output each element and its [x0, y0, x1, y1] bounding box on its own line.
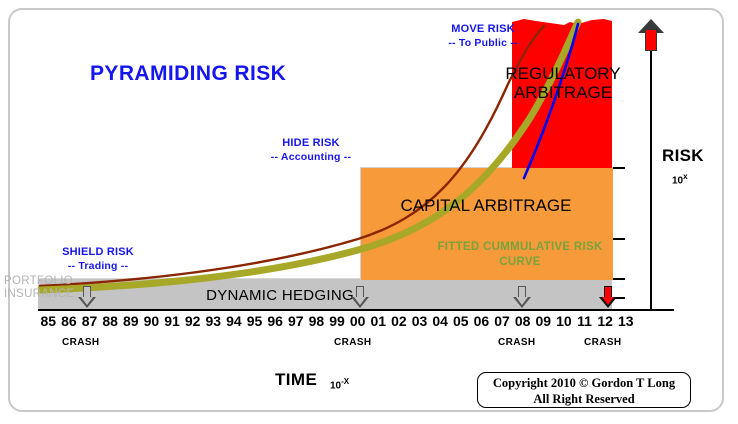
x-tick: 08 — [512, 313, 533, 331]
y-axis-label: RISK — [662, 146, 704, 166]
y-tick-regulatory — [613, 167, 625, 169]
x-tick: 94 — [224, 313, 245, 331]
crash-label-2012: CRASH — [584, 337, 622, 348]
callout-hide-risk: HIDE RISK -- Accounting -- — [246, 136, 376, 164]
y-axis-arrow-marker-icon — [645, 29, 657, 51]
copyright-notice: Copyright 2010 © Gordon T Long All Right… — [477, 372, 691, 408]
label-capital-arbitrage: CAPITAL ARBITRAGE — [360, 196, 612, 216]
crash-label-2000: CRASH — [334, 337, 372, 348]
x-tick: 09 — [533, 313, 554, 331]
x-tick: 95 — [244, 313, 265, 331]
crash-label-2008: CRASH — [498, 337, 536, 348]
crash-arrow-2008-icon — [513, 286, 531, 309]
x-tick: 12 — [595, 313, 616, 331]
copyright-line-1: Copyright 2010 © Gordon T Long — [478, 375, 690, 391]
callout-move-risk: MOVE RISK -- To Public -- — [418, 22, 548, 50]
y-tick-mid — [613, 238, 625, 240]
x-tick: 00 — [347, 313, 368, 331]
x-tick: 01 — [368, 313, 389, 331]
x-axis-tick-labels: 85 86 87 88 89 90 91 92 93 94 95 96 97 9… — [38, 313, 636, 331]
x-tick: 93 — [203, 313, 224, 331]
label-fitted-cummulative-risk-curve: FITTED CUMMULATIVE RISK CURVE — [430, 240, 610, 270]
callout-hide-risk-sub: -- Accounting -- — [246, 150, 376, 164]
x-tick: 06 — [471, 313, 492, 331]
x-tick: 87 — [79, 313, 100, 331]
label-dynamic-hedging: DYNAMIC HEDGING — [150, 287, 410, 304]
x-tick: 86 — [59, 313, 80, 331]
y-tick-capital-base — [613, 278, 625, 280]
x-tick: 90 — [141, 313, 162, 331]
callout-shield-risk-sub: -- Trading -- — [38, 259, 158, 273]
x-tick: 10 — [554, 313, 575, 331]
x-tick: 88 — [100, 313, 121, 331]
x-axis-line — [38, 309, 674, 311]
x-tick: 03 — [409, 313, 430, 331]
crash-arrow-2012-icon — [599, 286, 617, 309]
label-regulatory-arbitrage: REGULATORY ARBITRAGE — [498, 64, 628, 102]
x-tick: 92 — [182, 313, 203, 331]
x-tick: 89 — [121, 313, 142, 331]
callout-shield-risk-heading: SHIELD RISK — [38, 245, 158, 259]
x-axis-label: TIME — [275, 370, 317, 390]
crash-label-1987: CRASH — [62, 337, 100, 348]
label-portfolio-insurance: PORTFOLIO INSURANCE — [4, 275, 114, 301]
copyright-line-2: All Right Reserved — [478, 391, 690, 407]
y-axis-line — [650, 40, 652, 311]
x-tick: 11 — [574, 313, 595, 331]
x-tick: 05 — [451, 313, 472, 331]
crash-arrow-1987-icon — [78, 286, 96, 309]
x-tick: 13 — [616, 313, 637, 331]
y-axis-scale: 10x — [672, 172, 688, 186]
x-tick: 04 — [430, 313, 451, 331]
page-title: PYRAMIDING RISK — [90, 62, 286, 86]
x-tick: 07 — [492, 313, 513, 331]
callout-shield-risk: SHIELD RISK -- Trading -- — [38, 245, 158, 273]
callout-move-risk-sub: -- To Public -- — [418, 36, 548, 50]
x-tick: 85 — [38, 313, 59, 331]
x-tick: 97 — [286, 313, 307, 331]
x-tick: 96 — [265, 313, 286, 331]
callout-move-risk-heading: MOVE RISK — [418, 22, 548, 36]
pyramiding-risk-infographic: PYRAMIDING RISK SHIELD RISK -- Trading -… — [0, 0, 738, 424]
callout-hide-risk-heading: HIDE RISK — [246, 136, 376, 150]
x-tick: 02 — [389, 313, 410, 331]
x-tick: 98 — [306, 313, 327, 331]
x-tick: 91 — [162, 313, 183, 331]
crash-arrow-2000-icon — [351, 286, 369, 309]
x-tick: 99 — [327, 313, 348, 331]
x-axis-scale: 10-X — [330, 377, 349, 391]
